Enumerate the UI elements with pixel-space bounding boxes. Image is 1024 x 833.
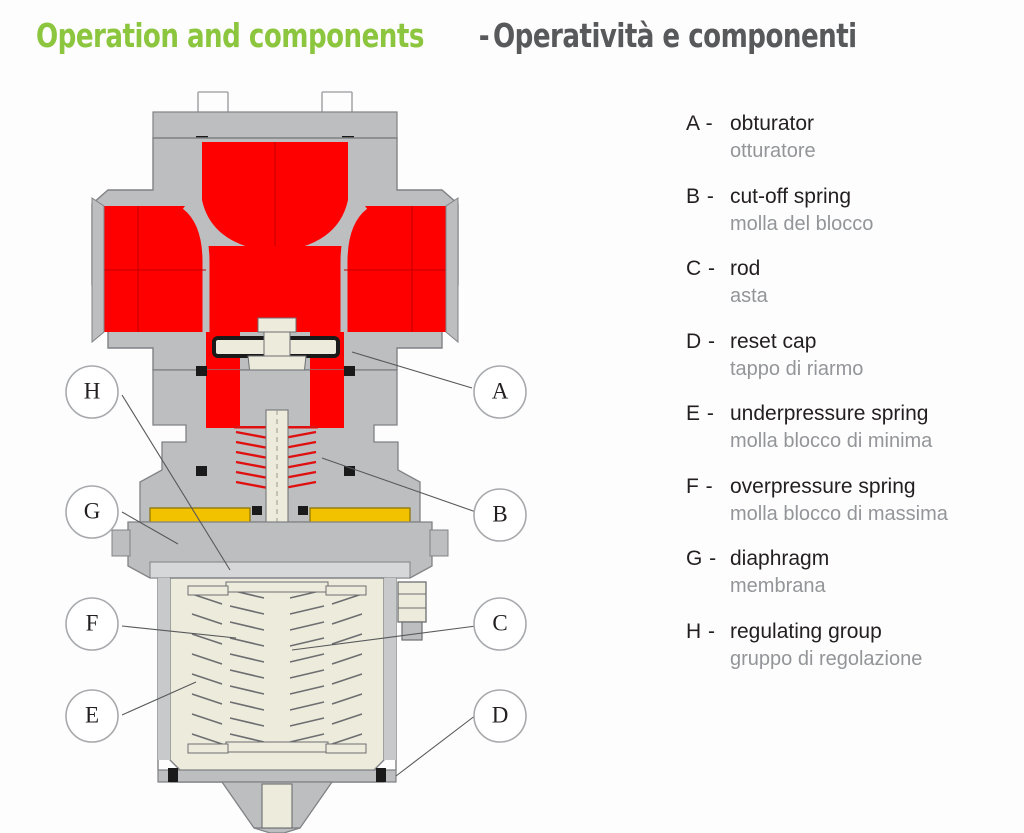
legend-item-b: B - cut-off spring molla del blocco [686,185,1016,239]
callout-c[interactable]: C [474,598,526,650]
title-english: Operation and components [36,16,424,55]
callout-a[interactable]: A [474,366,526,418]
legend-translation-c: asta [730,285,768,308]
legend-term-b: cut-off spring [730,185,851,209]
legend-key-a: A - [686,112,713,136]
legend-item-c: C - rod asta [686,257,1016,311]
side-port-fitting [398,582,426,640]
legend-key-d: D - [686,330,716,354]
legend-item-g: G - diaphragm membrana [686,547,1016,601]
callout-letter-a: A [492,378,509,403]
component-legend: A - obturator otturatore B - cut-off spr… [686,112,1016,692]
legend-key-g: G - [686,547,717,571]
legend-translation-b: molla del blocco [730,213,873,236]
reset-cap [158,768,396,833]
callout-f[interactable]: F [66,598,118,650]
legend-key-f: F - [686,475,713,499]
callout-letter-g: G [84,498,101,523]
legend-term-c: rod [730,257,760,281]
legend-translation-e: molla blocco di minima [730,430,932,453]
callout-d[interactable]: D [474,690,526,742]
legend-translation-h: gruppo di regolazione [730,648,922,671]
legend-translation-d: tappo di riarmo [730,358,863,381]
legend-translation-a: otturatore [730,140,816,163]
legend-item-f: F - overpressure spring molla blocco di … [686,475,1016,529]
callout-letter-f: F [86,610,99,635]
legend-key-h: H - [686,620,716,644]
callout-letter-e: E [85,702,99,727]
legend-term-g: diaphragm [730,547,829,571]
legend-key-c: C - [686,257,716,281]
diaphragm-housing [112,522,448,578]
callout-letter-b: B [492,501,507,526]
legend-item-h: H - regulating group gruppo di regolazio… [686,620,1016,674]
legend-term-h: regulating group [730,620,882,644]
title-separator: - [477,16,491,55]
callout-e[interactable]: E [66,690,118,742]
legend-key-b: B - [686,185,714,209]
title-italian: Operatività e componenti [493,16,857,55]
legend-term-d: reset cap [730,330,816,354]
legend-translation-g: membrana [730,575,826,598]
callout-letter-c: C [492,610,507,635]
legend-translation-f: molla blocco di massima [730,503,948,526]
valve-cutaway-diagram: A B C D E F G H [0,70,670,833]
legend-term-e: underpressure spring [730,402,928,426]
callout-h[interactable]: H [66,366,118,418]
page-title: Operation and components-Operatività e c… [36,16,996,64]
legend-item-d: D - reset cap tappo di riarmo [686,330,1016,384]
callout-g[interactable]: G [66,486,118,538]
legend-item-e: E - underpressure spring molla blocco di… [686,402,1016,456]
legend-term-f: overpressure spring [730,475,916,499]
callout-b[interactable]: B [474,489,526,541]
legend-key-e: E - [686,402,714,426]
callout-letter-h: H [84,378,101,403]
callout-letter-d: D [492,702,509,727]
legend-item-a: A - obturator otturatore [686,112,1016,166]
legend-term-a: obturator [730,112,814,136]
